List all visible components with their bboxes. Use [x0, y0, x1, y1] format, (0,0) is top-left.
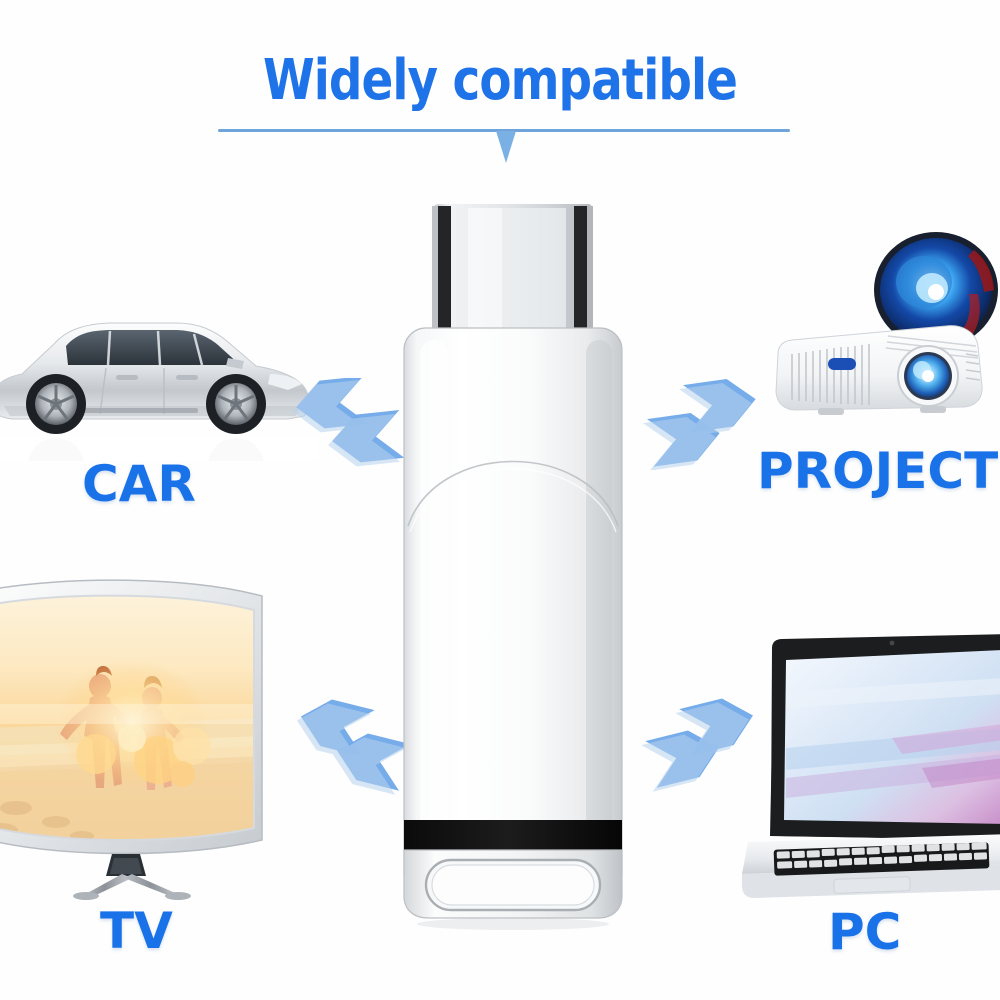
device-label-tv: TV	[100, 902, 173, 960]
device-label-projector: PROJECT	[757, 442, 998, 500]
curved-tv-photo	[0, 578, 286, 900]
page-title: Widely compatible	[35, 48, 965, 113]
arrow-to-projector	[640, 378, 780, 470]
device-label-car: CAR	[82, 455, 196, 513]
infographic-canvas: Widely compatible	[0, 0, 1000, 1000]
usb-flash-drive	[398, 196, 628, 936]
laptop-photo	[742, 628, 1000, 918]
arrow-to-pc	[640, 698, 780, 798]
projector-photo	[770, 228, 1000, 433]
device-label-pc: PC	[828, 903, 901, 961]
car-photo	[0, 286, 318, 461]
title-pointer-icon	[496, 131, 516, 163]
